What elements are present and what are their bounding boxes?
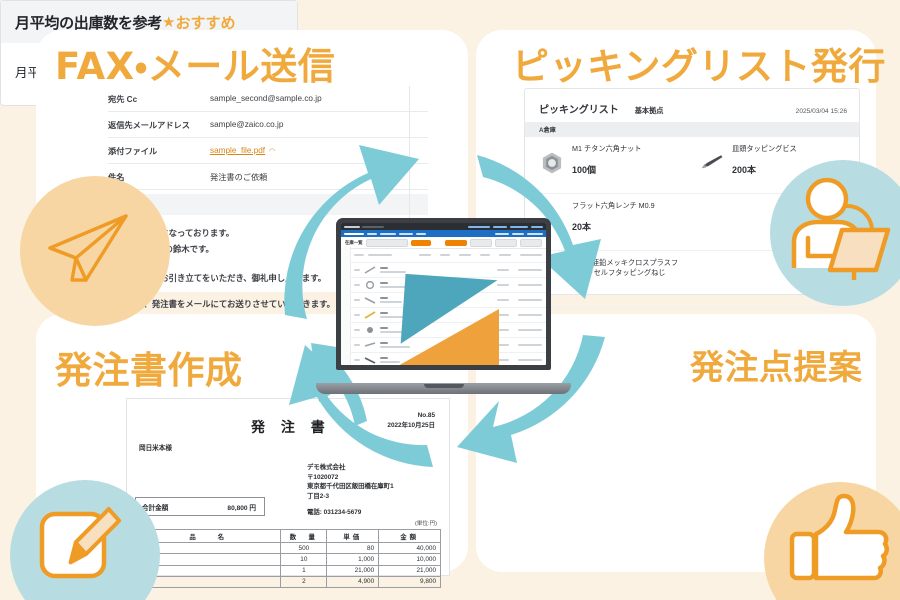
item-thumb-icon bbox=[364, 265, 376, 275]
cell-unit: 80 bbox=[327, 543, 379, 554]
mail-value-cc: sample_second@sample.co.jp bbox=[210, 94, 322, 103]
cell-name bbox=[136, 576, 281, 587]
laptop-screen: 在庫一覧 bbox=[336, 218, 551, 370]
page-title-picking-list: ピッキングリスト発行 bbox=[512, 36, 886, 90]
star-icon: ★ bbox=[162, 13, 175, 31]
person-at-desk-icon bbox=[784, 172, 896, 284]
cell-unit: 1,000 bbox=[327, 554, 379, 565]
cell-qty: 10 bbox=[281, 554, 327, 565]
app-list-title: 在庫一覧 bbox=[345, 240, 363, 246]
pencil-edit-icon bbox=[36, 500, 128, 592]
cell-qty: 1 bbox=[281, 565, 327, 576]
col-unit: 単価 bbox=[327, 530, 379, 543]
cell-amount: 9,800 bbox=[379, 576, 441, 587]
screw-photo-icon bbox=[699, 150, 725, 176]
paper-plane-icon bbox=[42, 208, 134, 292]
table-row: 2 4,900 9,800 bbox=[136, 576, 441, 587]
cell-unit: 4,900 bbox=[327, 576, 379, 587]
cell-unit: 21,000 bbox=[327, 565, 379, 576]
page-title-fax-mail: FAX・メール送信 bbox=[55, 36, 335, 90]
picking-item-name: 皿頭タッピングビス bbox=[732, 144, 797, 154]
purchase-order-total: 合計金額 80,800 円 bbox=[135, 497, 265, 516]
cell-qty: 500 bbox=[281, 543, 327, 554]
app-navbar bbox=[341, 230, 546, 237]
company-line-4: 丁目2-3 bbox=[307, 492, 394, 502]
cell-amount: 40,000 bbox=[379, 543, 441, 554]
purchase-order-addressee: 岡日米本様 bbox=[139, 442, 172, 452]
mail-label-attachment: 添付ファイル bbox=[108, 145, 210, 157]
total-value: 80,800 円 bbox=[227, 502, 264, 512]
table-header-row: 品 名 数 量 単価 金額 bbox=[136, 530, 441, 543]
table-row: X1 1 21,000 21,000 bbox=[136, 565, 441, 576]
list-row-header bbox=[350, 248, 546, 263]
item-thumb-icon bbox=[364, 310, 376, 320]
col-amount: 金額 bbox=[379, 530, 441, 543]
cell-amount: 21,000 bbox=[379, 565, 441, 576]
infographic-stage: 宛先 Cc sample_second@sample.co.jp 返信先メールア… bbox=[0, 0, 900, 600]
purchase-order-table: 品 名 数 量 単価 金額 500 80 40,000 M855 10 1,00… bbox=[135, 529, 441, 588]
mail-label-cc: 宛先 Cc bbox=[108, 93, 210, 105]
item-thumb-icon bbox=[364, 295, 376, 305]
item-thumb-icon bbox=[364, 355, 376, 365]
picking-list-title: ピッキングリスト bbox=[539, 101, 619, 116]
item-thumb-icon bbox=[364, 325, 376, 335]
cell-amount: 10,000 bbox=[379, 554, 441, 565]
page-title-reorder-point: 発注点提案 bbox=[690, 340, 863, 389]
table-row: M855 10 1,000 10,000 bbox=[136, 554, 441, 565]
purchase-order-unit-note: (単位:円) bbox=[415, 519, 437, 527]
item-thumb-icon bbox=[364, 340, 376, 350]
app-topbar bbox=[341, 223, 546, 230]
item-thumb-icon bbox=[364, 280, 376, 290]
page-title-purchase-order: 発注書作成 bbox=[55, 340, 243, 394]
mail-label-replyto: 返信先メールアドレス bbox=[108, 119, 210, 131]
list-item bbox=[350, 263, 546, 278]
col-qty: 数 量 bbox=[281, 530, 327, 543]
cell-qty: 2 bbox=[281, 576, 327, 587]
picking-list-date: 2025/03/04 15:26 bbox=[796, 108, 847, 115]
table-row: 500 80 40,000 bbox=[136, 543, 441, 554]
laptop-notch bbox=[424, 384, 464, 388]
macbook-laptop: 在庫一覧 bbox=[316, 218, 571, 394]
thumbs-up-icon bbox=[786, 492, 894, 596]
purchase-order-tel: 電話: 031234-5679 bbox=[307, 507, 361, 516]
laptop-screen-content: 在庫一覧 bbox=[341, 223, 546, 365]
decorative-orange-triangle bbox=[389, 309, 499, 365]
